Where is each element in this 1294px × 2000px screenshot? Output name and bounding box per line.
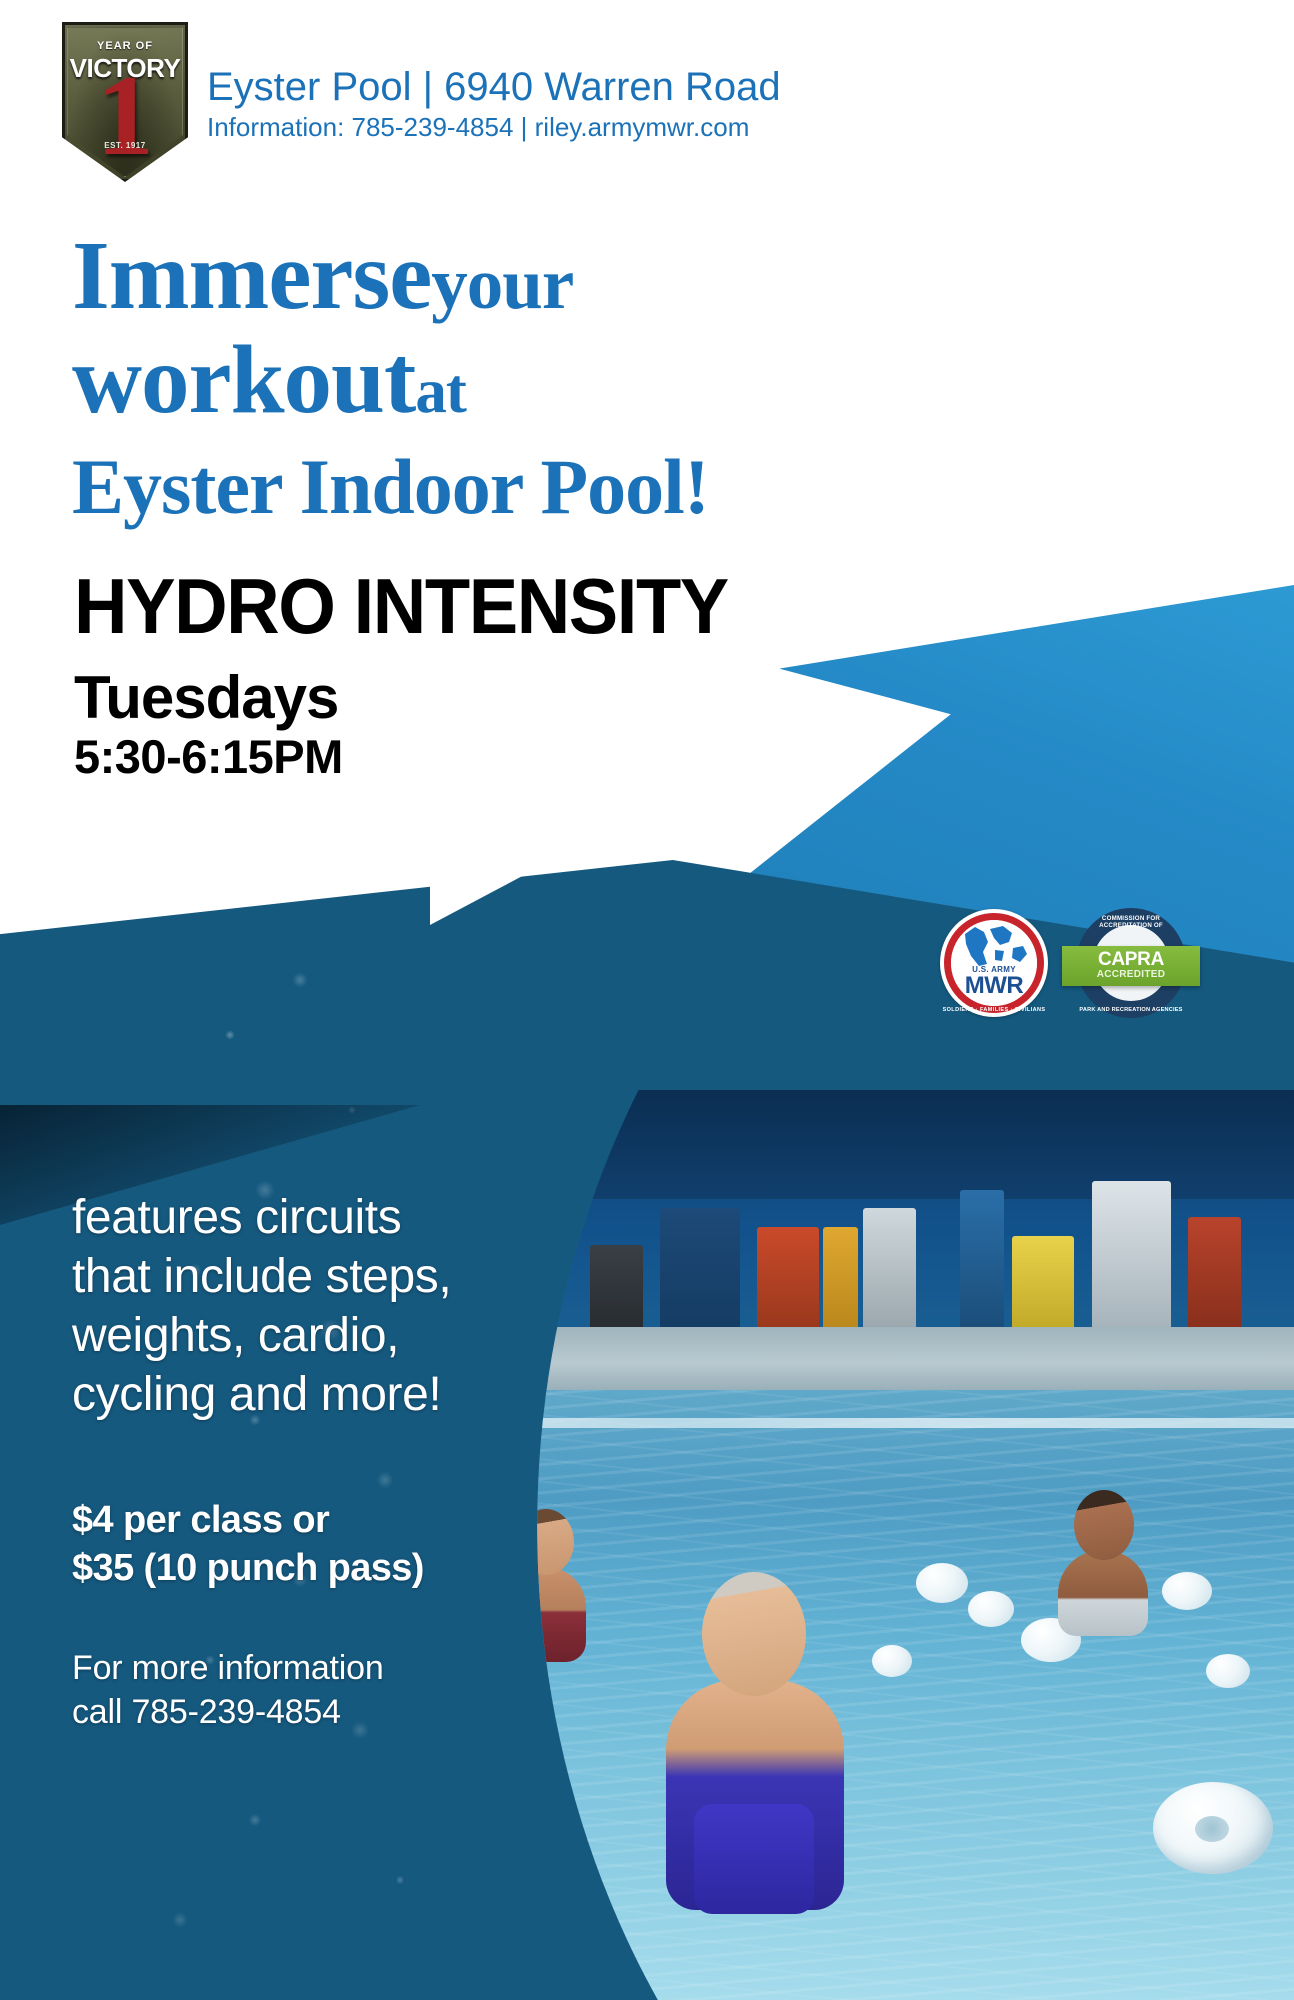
price-line-2: $35 (10 punch pass) — [72, 1544, 472, 1592]
photo-swimmer-right — [1056, 1490, 1152, 1640]
program-title: HYDRO INTENSITY — [74, 565, 728, 647]
program-info-block: HYDRO INTENSITY Tuesdays 5:30-6:15PM — [74, 565, 762, 785]
header-text-block: Eyster Pool | 6940 Warren Road Informati… — [207, 64, 781, 144]
accreditation-logos: U.S. ARMY MWR SOLDIERS · FAMILIES · CIVI… — [940, 908, 1186, 1018]
body-copy-block: features circuits that include steps, we… — [72, 1188, 472, 1734]
swimmer-head — [1074, 1490, 1134, 1560]
poster-root: YEAR OF VICTORY 1 EST. 1917 Eyster Pool … — [0, 0, 1294, 2000]
page-title: Immerseyour workoutat Eyster Indoor Pool… — [72, 228, 709, 535]
swimmer-body — [1058, 1550, 1148, 1636]
capra-bottom-arc-text: PARK AND RECREATION AGENCIES — [1076, 1007, 1186, 1013]
mwr-tagline-arc: SOLDIERS · FAMILIES · CIVILIANS — [940, 1007, 1048, 1013]
venue-address-line: Eyster Pool | 6940 Warren Road — [207, 64, 781, 110]
capra-top-arc-text: COMMISSION FOR ACCREDITATION OF — [1076, 915, 1186, 929]
mwr-wordmark: MWR — [951, 972, 1037, 1000]
headline-line-3: Eyster Indoor Pool! — [72, 439, 709, 535]
badge-inner-shape: YEAR OF VICTORY 1 EST. 1917 — [67, 27, 183, 177]
year-of-victory-badge-icon: YEAR OF VICTORY 1 EST. 1917 — [62, 22, 188, 182]
headline-line-2: workoutat — [72, 332, 709, 439]
swimmer-head — [702, 1572, 806, 1696]
headline-at: at — [415, 356, 465, 426]
poster-header: YEAR OF VICTORY 1 EST. 1917 Eyster Pool … — [0, 22, 1294, 182]
photo-swimmer-foreground — [660, 1572, 850, 1982]
features-description: features circuits that include steps, we… — [72, 1188, 472, 1424]
badge-numeral-one: 1 — [68, 58, 182, 174]
badge-year-of-label: YEAR OF — [68, 40, 182, 52]
program-day: Tuesdays — [74, 667, 762, 729]
information-contact-line: Information: 785-239-4854 | riley.armymw… — [207, 110, 781, 144]
headline-line-1: Immerseyour — [72, 228, 709, 332]
headline-immerse: Immerse — [72, 222, 431, 329]
photo-float-ball — [872, 1645, 912, 1677]
capra-subtitle: ACCREDITED — [1076, 969, 1186, 980]
photo-float-ball — [968, 1591, 1014, 1627]
capra-title: CAPRA — [1076, 949, 1186, 971]
photo-float-ball — [1206, 1654, 1250, 1688]
headline-workout: workout — [72, 326, 415, 433]
price-line-1: $4 per class or — [72, 1496, 472, 1544]
contact-line-1: For more information — [72, 1646, 472, 1690]
program-time: 5:30-6:15PM — [74, 729, 762, 785]
photo-pool-noodle — [1153, 1782, 1273, 1874]
photo-float-ball — [916, 1563, 968, 1603]
us-army-mwr-logo-icon: U.S. ARMY MWR SOLDIERS · FAMILIES · CIVI… — [940, 909, 1048, 1017]
headline-your: your — [431, 243, 573, 324]
capra-accredited-logo-icon: COMMISSION FOR ACCREDITATION OF PARK AND… — [1076, 908, 1186, 1018]
photo-lane-line — [414, 1418, 1294, 1428]
mwr-inner-disc: U.S. ARMY MWR — [951, 920, 1037, 1006]
contact-line-2: call 785-239-4854 — [72, 1690, 472, 1734]
swimmer-swimsuit — [694, 1804, 814, 1914]
